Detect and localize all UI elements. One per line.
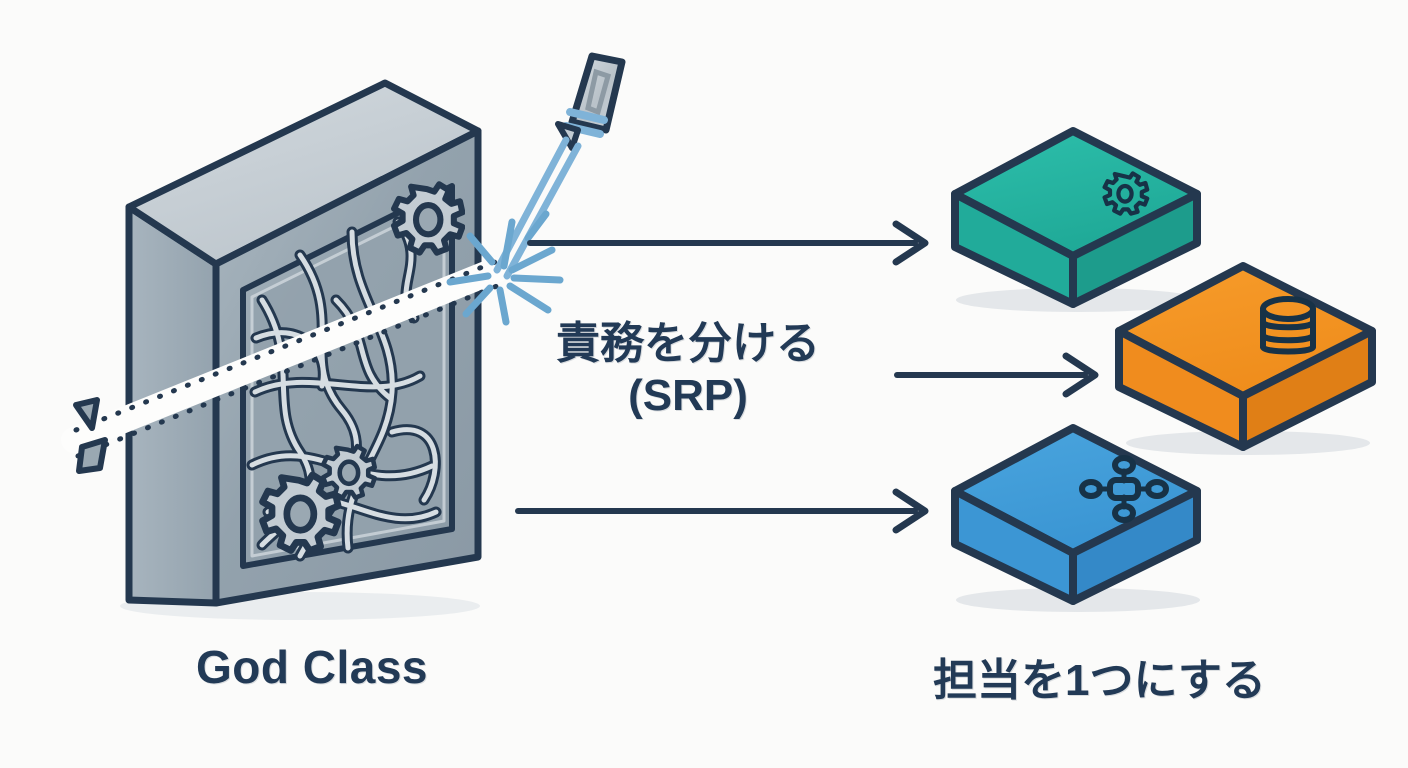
label-split-line1: 責務を分ける [556, 319, 820, 368]
diagram-canvas: God Class 責務を分ける (SRP) 担当を1つにする [0, 0, 1408, 768]
blue-box [955, 428, 1200, 612]
label-split-line2: (SRP) [556, 370, 820, 422]
label-god-class: God Class [196, 640, 428, 694]
arrow-middle [897, 356, 1095, 394]
fragment-diamond [79, 440, 105, 471]
label-single-responsibility: 担当を1つにする [933, 644, 1266, 708]
teal-box [955, 131, 1200, 312]
arrow-top [530, 224, 925, 262]
fragment-triangle [76, 400, 97, 428]
label-split-responsibility: 責務を分ける (SRP) [556, 318, 820, 422]
arrow-bottom [518, 492, 925, 530]
